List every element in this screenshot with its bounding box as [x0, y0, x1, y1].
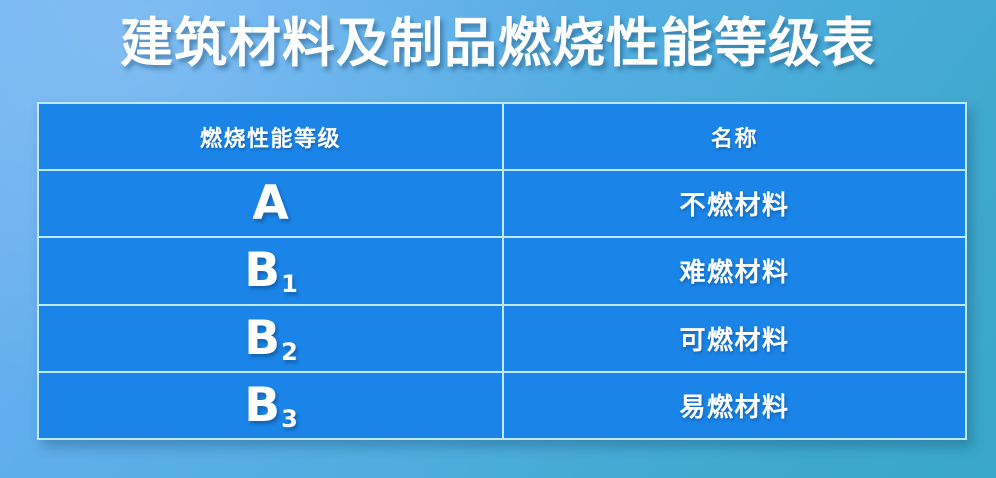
column-header-name: 名称 [503, 103, 966, 170]
poster-canvas: 建筑材料及制品燃烧性能等级表 燃烧性能等级 名称 A 不燃材料 B1 难燃材料 … [0, 0, 996, 478]
grade-letter: B [244, 378, 280, 433]
table-row: B2 可燃材料 [38, 305, 966, 372]
cell-grade: B3 [38, 372, 503, 439]
grade-letter: B [244, 243, 280, 298]
cell-name: 可燃材料 [503, 305, 966, 372]
cell-grade: A [38, 170, 503, 237]
cell-grade: B2 [38, 305, 503, 372]
grade-letter: A [252, 176, 288, 231]
grade-subscript: 1 [281, 270, 298, 298]
grade-letter: B [244, 311, 280, 366]
table-row: B3 易燃材料 [38, 372, 966, 439]
table-row: B1 难燃材料 [38, 237, 966, 304]
grade-subscript: 2 [281, 338, 298, 366]
grade-subscript: 3 [281, 405, 298, 433]
column-header-grade: 燃烧性能等级 [38, 103, 503, 170]
combustion-grade-table: 燃烧性能等级 名称 A 不燃材料 B1 难燃材料 B2 可燃材料 B3 易燃材料 [37, 102, 967, 440]
table-header-row: 燃烧性能等级 名称 [38, 103, 966, 170]
page-title: 建筑材料及制品燃烧性能等级表 [0, 9, 996, 79]
cell-name: 不燃材料 [503, 170, 966, 237]
cell-name: 易燃材料 [503, 372, 966, 439]
cell-name: 难燃材料 [503, 237, 966, 304]
table-row: A 不燃材料 [38, 170, 966, 237]
cell-grade: B1 [38, 237, 503, 304]
